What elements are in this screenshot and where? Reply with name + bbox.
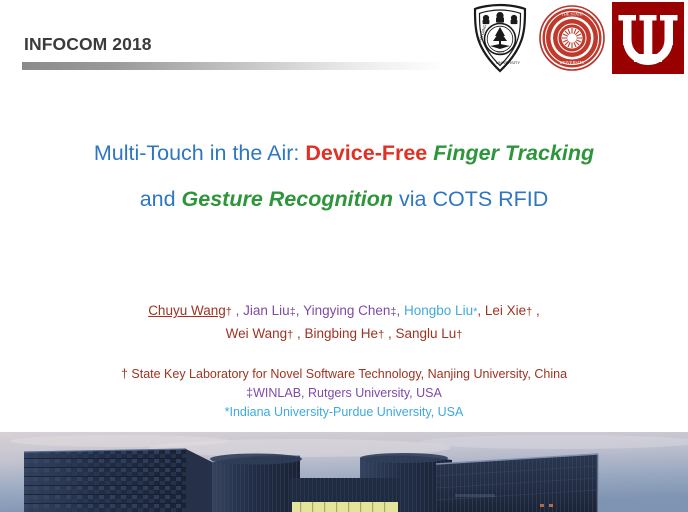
author-line-1: Chuyu Wang† , Jian Liu‡, Yingying Chen‡,… xyxy=(0,300,688,323)
author-hongbo-liu: Hongbo Liu xyxy=(404,303,473,318)
affiliation-nanjing: † State Key Laboratory for Novel Softwar… xyxy=(0,365,688,384)
author-chuyu-wang: Chuyu Wang xyxy=(148,303,226,318)
indiana-university-logo xyxy=(612,2,684,74)
author-sep-4: , xyxy=(477,303,485,318)
campus-building-photo xyxy=(0,432,688,512)
author-yingying-chen: Yingying Chen xyxy=(303,303,390,318)
author-sep-3: , xyxy=(397,303,405,318)
author-lei-xie: Lei Xie xyxy=(485,303,526,318)
author-sep-6: , xyxy=(293,326,304,341)
title-line-2: and Gesture Recognition via COTS RFID xyxy=(0,176,688,222)
title-segment-blue-3: via COTS RFID xyxy=(399,187,548,211)
title-segment-green-1: Finger Tracking xyxy=(433,141,594,165)
affiliation-rutgers: ‡WINLAB, Rutgers University, USA xyxy=(0,384,688,403)
svg-text:THE STATE: THE STATE xyxy=(561,12,583,17)
affiliation-list: † State Key Laboratory for Novel Softwar… xyxy=(0,365,688,422)
title-segment-green-2: Gesture Recognition xyxy=(182,187,393,211)
presentation-slide: INFOCOM 2018 xyxy=(0,0,688,512)
rutgers-university-logo: THE STATE UNIVERSITY xyxy=(537,2,607,74)
author-sep-5: , xyxy=(532,303,540,318)
author-mark-sanglu-lu: † xyxy=(456,329,462,341)
svg-text:1902: 1902 xyxy=(496,51,504,55)
svg-text:UNIVERSITY: UNIVERSITY xyxy=(559,60,584,65)
author-list: Chuyu Wang† , Jian Liu‡, Yingying Chen‡,… xyxy=(0,300,688,346)
author-sep-7: , xyxy=(384,326,395,341)
author-line-2: Wei Wang† , Bingbing He† , Sanglu Lu† xyxy=(0,323,688,346)
slide-header: INFOCOM 2018 xyxy=(0,0,688,80)
conference-label: INFOCOM 2018 xyxy=(24,34,152,55)
svg-text:UNIVERSITY: UNIVERSITY xyxy=(496,60,520,65)
author-bingbing-he: Bingbing He xyxy=(305,326,379,341)
author-sep-1: , xyxy=(232,303,243,318)
author-jian-liu: Jian Liu xyxy=(243,303,290,318)
slide-title: Multi-Touch in the Air: Device-Free Fing… xyxy=(0,130,688,222)
author-wei-wang: Wei Wang xyxy=(226,326,288,341)
affiliation-indiana: *Indiana University-Purdue University, U… xyxy=(0,403,688,422)
title-segment-blue-1: Multi-Touch in the Air: xyxy=(94,141,300,165)
author-sep-2: , xyxy=(296,303,303,318)
title-segment-blue-2: and xyxy=(140,187,176,211)
author-sanglu-lu: Sanglu Lu xyxy=(395,326,456,341)
header-divider-bar xyxy=(22,62,447,70)
nanjing-university-logo: 1902 NANJING UNIVERSITY xyxy=(468,2,532,74)
title-segment-red: Device-Free xyxy=(305,141,427,165)
title-line-1: Multi-Touch in the Air: Device-Free Fing… xyxy=(0,130,688,176)
logo-group: 1902 NANJING UNIVERSITY xyxy=(468,2,684,76)
